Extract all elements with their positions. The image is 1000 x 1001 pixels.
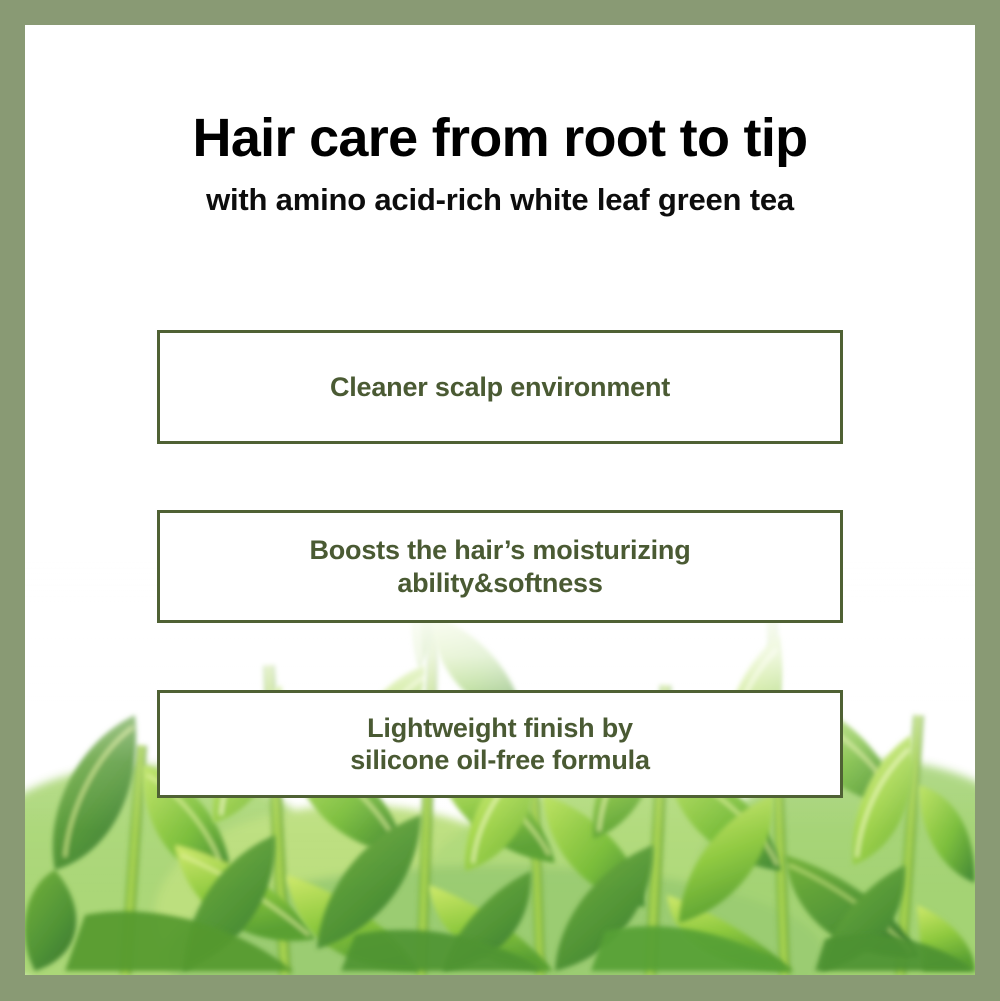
- feature-box-cleaner-scalp: Cleaner scalp environment: [157, 330, 843, 444]
- feature-line-2: ability&softness: [309, 567, 690, 599]
- feature-line-1: Cleaner scalp environment: [330, 372, 670, 402]
- feature-text: Cleaner scalp environment: [316, 371, 684, 403]
- feature-text: Boosts the hair’s moisturizing ability&s…: [295, 534, 704, 599]
- feature-box-lightweight-finish: Lightweight finish by silicone oil-free …: [157, 690, 843, 798]
- feature-box-moisturizing: Boosts the hair’s moisturizing ability&s…: [157, 510, 843, 623]
- page-subtitle: with amino acid-rich white leaf green te…: [25, 183, 975, 217]
- feature-line-2: silicone oil-free formula: [350, 744, 650, 776]
- feature-line-1: Lightweight finish by: [367, 713, 633, 743]
- poster-root: Hair care from root to tip with amino ac…: [0, 0, 1000, 1001]
- poster-canvas: Hair care from root to tip with amino ac…: [25, 25, 975, 975]
- page-title: Hair care from root to tip: [25, 110, 975, 167]
- feature-line-1: Boosts the hair’s moisturizing: [309, 535, 690, 565]
- feature-text: Lightweight finish by silicone oil-free …: [336, 712, 664, 777]
- headline-block: Hair care from root to tip with amino ac…: [25, 110, 975, 217]
